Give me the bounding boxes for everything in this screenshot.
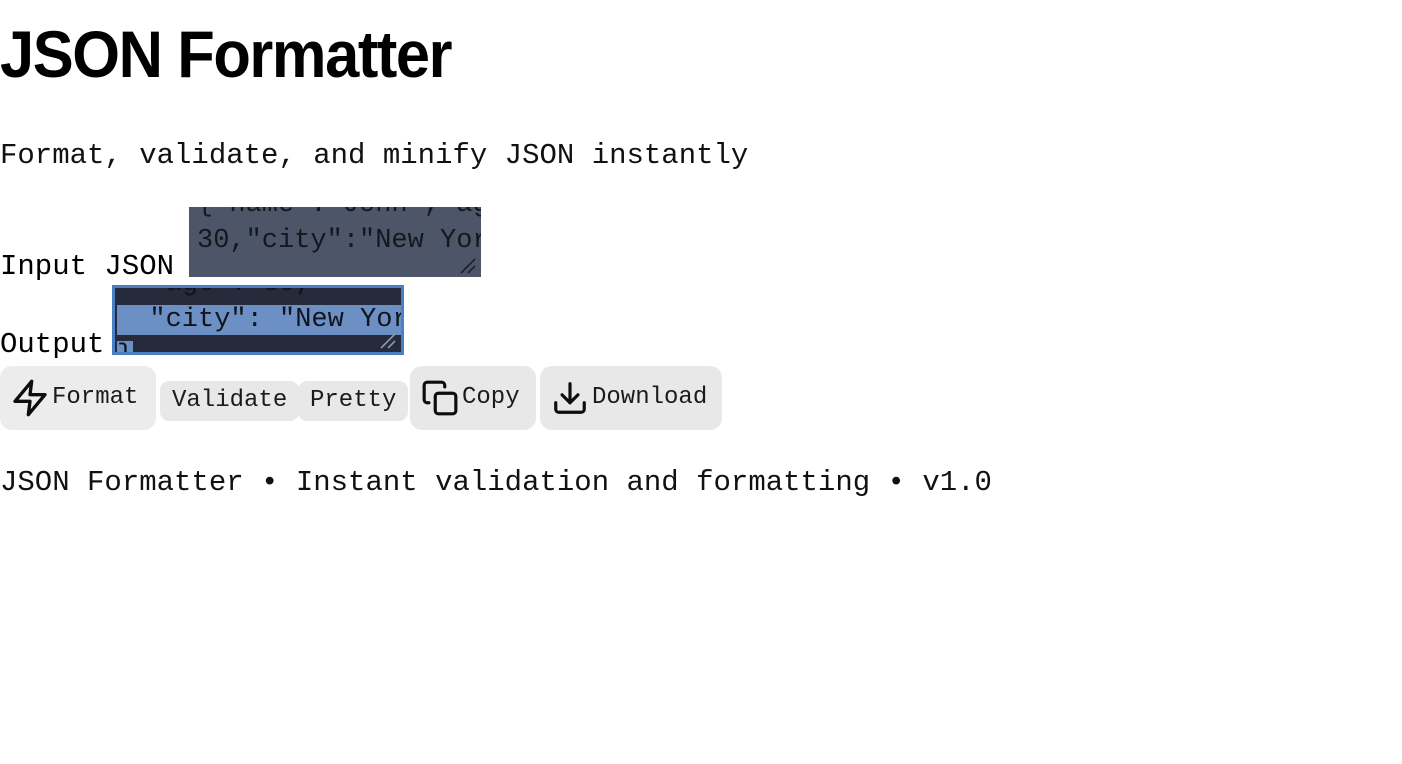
lightning-bolt-icon — [8, 376, 52, 420]
page-subtitle: Format, validate, and minify JSON instan… — [0, 136, 748, 176]
output-json-line-3: } — [117, 341, 133, 355]
download-button[interactable]: Download — [540, 366, 722, 430]
input-json-line-2: 30,"city":"New York"} — [197, 226, 481, 256]
output-json-content: "age": 30, "city": "New York" } — [117, 285, 404, 355]
pretty-button-label: Pretty — [310, 389, 396, 413]
input-json-textarea[interactable]: {"name":"John","age": 30,"city":"New Yor… — [189, 207, 481, 277]
copy-icon — [418, 376, 462, 420]
pretty-button[interactable]: Pretty — [298, 381, 408, 421]
download-icon — [548, 376, 592, 420]
copy-button[interactable]: Copy — [410, 366, 536, 430]
download-button-label: Download — [592, 386, 707, 410]
format-button-label: Format — [52, 386, 138, 410]
resize-handle-icon[interactable] — [458, 256, 478, 276]
copy-button-label: Copy — [462, 386, 520, 410]
footer-text: JSON Formatter • Instant validation and … — [0, 463, 992, 503]
validate-button-label: Validate — [172, 389, 287, 413]
page-title: JSON Formatter — [0, 14, 451, 94]
input-json-content: {"name":"John","age": 30,"city":"New Yor… — [197, 207, 481, 259]
format-button[interactable]: Format — [0, 366, 156, 430]
input-json-label: Input JSON — [0, 247, 174, 287]
output-json-textarea[interactable]: "age": 30, "city": "New York" } — [112, 285, 404, 355]
output-json-line-2: "city": "New York" — [117, 305, 404, 335]
input-json-line-1: {"name":"John","age": — [197, 207, 481, 220]
output-json-line-1: "age": 30, — [117, 285, 311, 299]
output-json-label: Output — [0, 325, 104, 365]
validate-button[interactable]: Validate — [160, 381, 299, 421]
